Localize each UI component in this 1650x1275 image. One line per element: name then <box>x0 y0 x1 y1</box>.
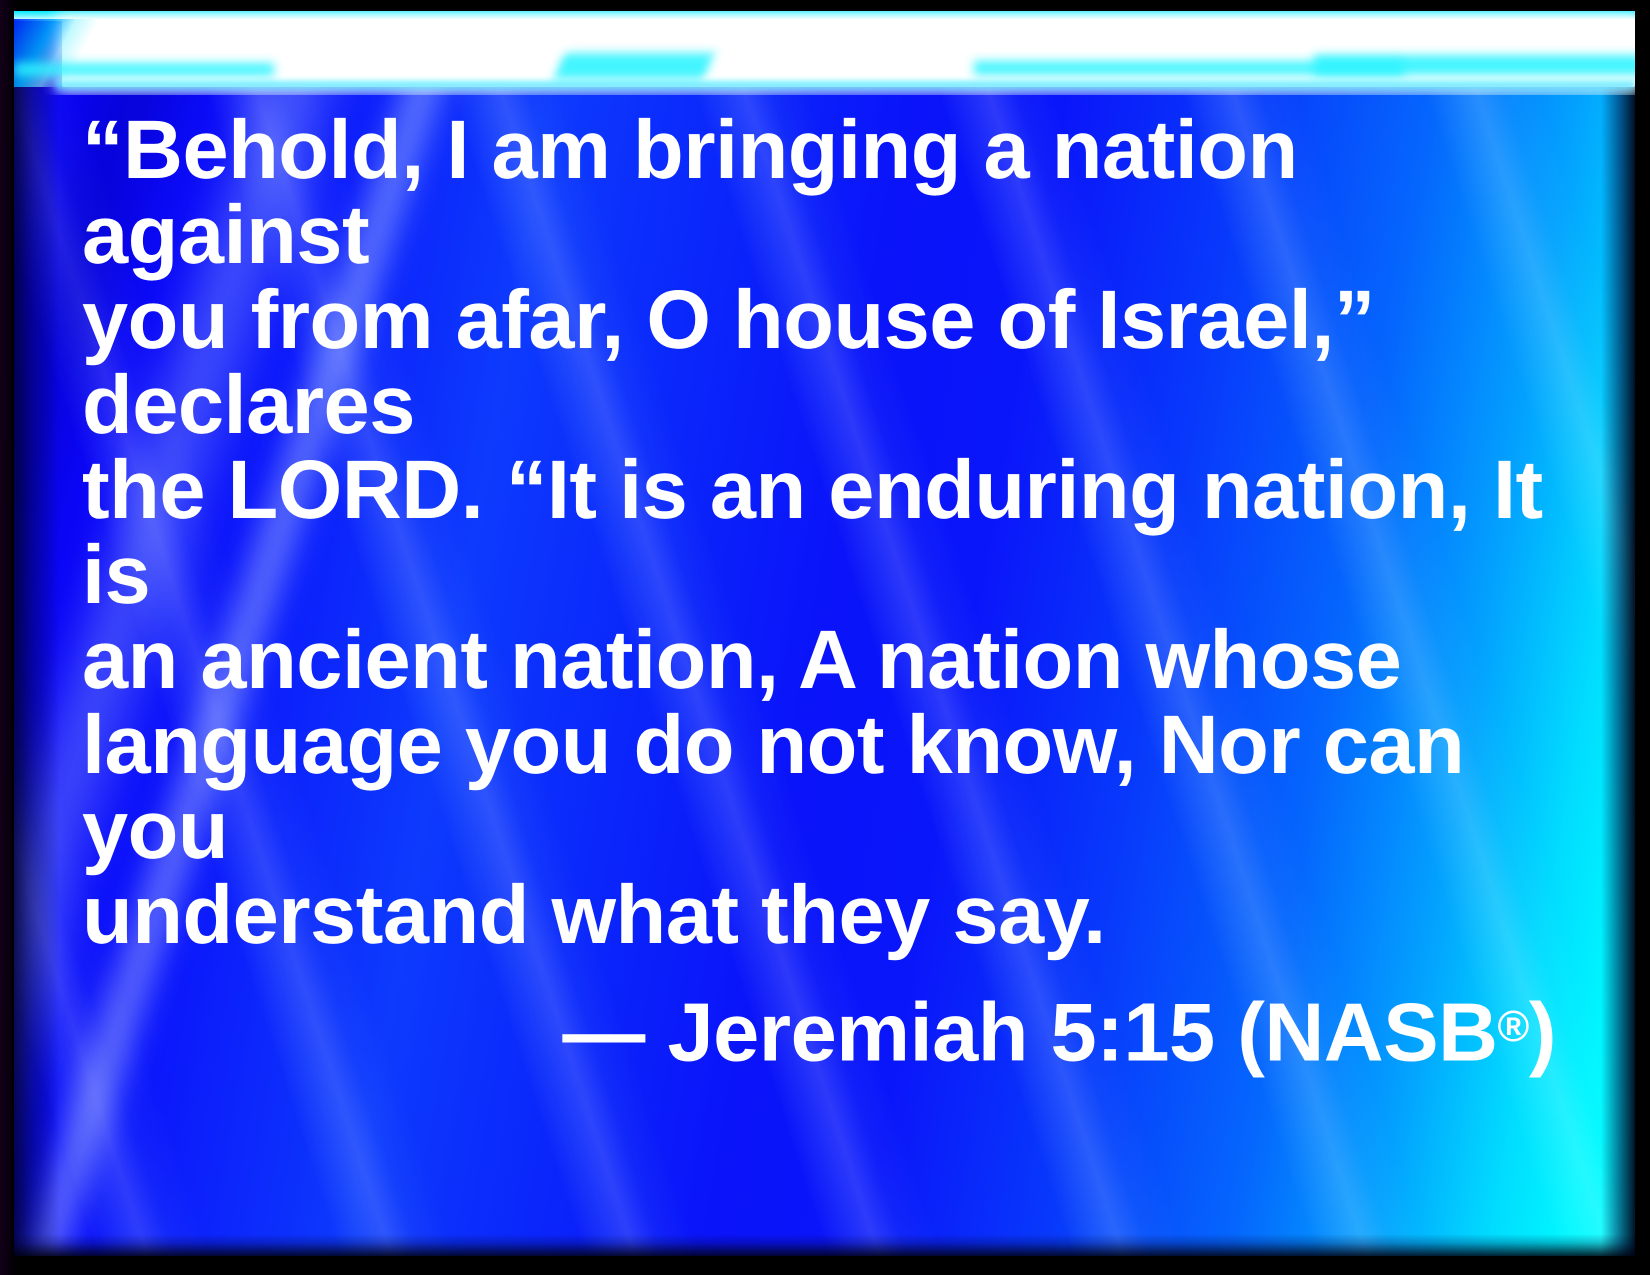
scripture-slide: “Behold, I am bringing a nation against … <box>0 0 1650 1275</box>
verse-block: “Behold, I am bringing a nation against … <box>82 107 1562 1076</box>
header-cyan-wisp <box>1314 55 1635 75</box>
background-bottom-shadow <box>14 1234 1635 1256</box>
header-cyan-wisp <box>554 53 715 79</box>
slide-canvas: “Behold, I am bringing a nation against … <box>14 11 1635 1256</box>
background-left-shadow <box>14 11 60 1256</box>
verse-attribution: — Jeremiah 5:15 (NASB®) <box>82 983 1562 1076</box>
registered-trademark-mark: ® <box>1498 1003 1529 1051</box>
header-glow-band <box>14 11 1635 95</box>
header-white-bar <box>62 19 1635 87</box>
verse-text: “Behold, I am bringing a nation against … <box>82 107 1562 957</box>
header-underglow <box>56 81 1635 93</box>
background-right-shadow <box>1601 11 1635 1256</box>
header-cyan-wisp <box>14 63 274 76</box>
header-left-bevel <box>14 19 134 87</box>
